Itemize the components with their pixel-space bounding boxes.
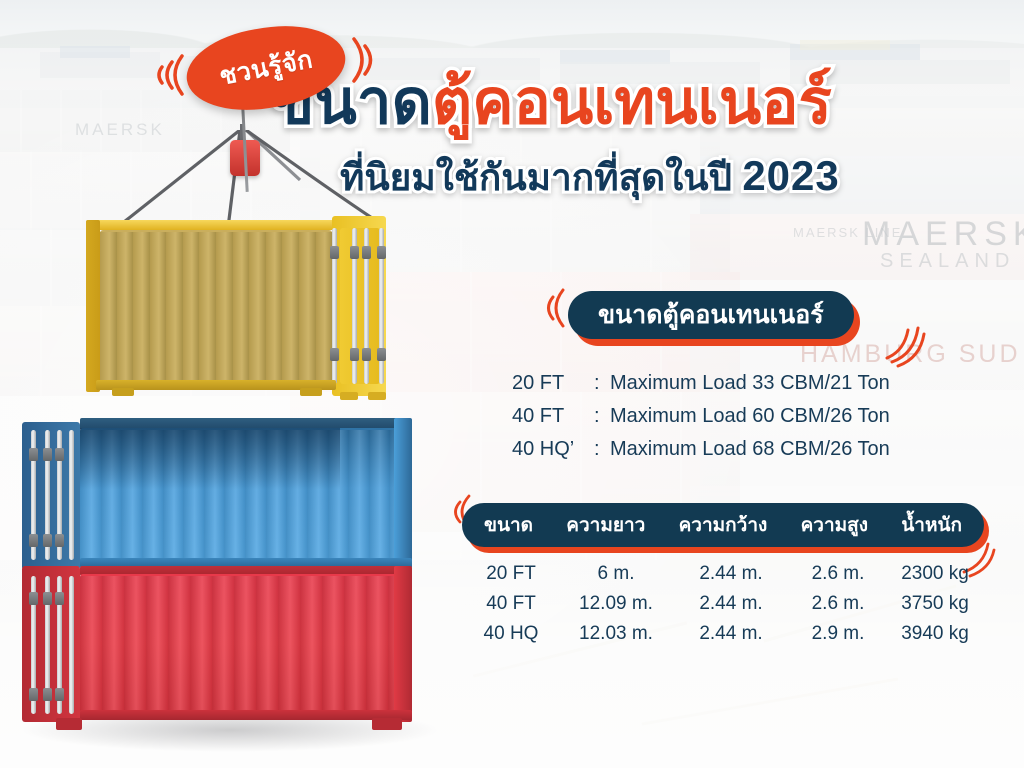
container-rod-lug [377,246,386,259]
table-row: 40 FT 12.09 m. 2.44 m. 2.6 m. 3750 kg [462,593,984,623]
table-cell-weight: 2300 kg [886,563,984,585]
table-cell-length: 6 m. [560,563,672,585]
table-column-header-height: ความสูง [801,510,868,540]
container-door-panel [340,228,380,384]
container-rod-lug [55,592,64,605]
container-rod-lug [350,246,359,259]
container-rod-lug [43,534,52,547]
container-rod-lug [330,348,339,361]
load-separator: : [594,438,610,461]
table-cell-width: 2.44 m. [672,593,790,615]
table-cell-width: 2.44 m. [672,563,790,585]
load-size: 20 FT [512,372,594,395]
load-value: Maximum Load 60 CBM/26 Ton [610,405,890,428]
load-size: 40 FT [512,405,594,428]
container-corner-post [86,220,100,392]
container-foot [368,392,386,400]
table-cell-length: 12.09 m. [560,593,672,615]
intro-badge: ชวนรู้จัก [186,28,346,108]
container-rod-lug [330,246,339,259]
container-foot [56,718,82,730]
load-separator: : [594,405,610,428]
load-separator: : [594,372,610,395]
intro-badge-label: ชวนรู้จัก [216,39,316,96]
container-rod-lug [29,448,38,461]
section-title-pill: ขนาดตู้คอนเทนเนอร์ [568,291,854,339]
container-rod-lug [55,534,64,547]
page-subtitle: ที่นิยมใช้กันมากที่สุดในปี 2023 [340,148,840,207]
load-value: Maximum Load 33 CBM/21 Ton [610,372,890,395]
container-foot [340,392,358,400]
page-subtitle-year: 2023 [742,152,839,199]
container-foot [372,718,402,730]
table-cell-width: 2.44 m. [672,623,790,645]
photo-brand-maersk-line: MAERSK LINE [793,225,902,240]
container-locking-rod [69,430,74,560]
table-cell-weight: 3750 kg [886,593,984,615]
container-foot [112,388,134,396]
table-column-header-size: ขนาด [484,510,533,540]
list-item: 40 HQ’ : Maximum Load 68 CBM/26 Ton [512,438,890,471]
container-rod-lug [350,348,359,361]
page-subtitle-text: ที่นิยมใช้กันมากที่สุดในปี [340,157,742,198]
table-cell-size: 20 FT [462,563,560,585]
container-rod-lug [362,348,371,361]
table-cell-length: 12.03 m. [560,623,672,645]
table-column-header-width: ความกว้าง [679,510,768,540]
sound-arc-title-left-icon [536,286,570,330]
red-container [22,566,422,726]
blue-container [22,418,422,570]
spec-table-body: 20 FT 6 m. 2.44 m. 2.6 m. 2300 kg 40 FT … [462,563,984,653]
container-top-shadow [80,428,340,490]
table-cell-height: 2.6 m. [790,563,886,585]
list-item: 20 FT : Maximum Load 33 CBM/21 Ton [512,372,890,405]
load-size: 40 HQ’ [512,438,594,461]
table-column-header-length: ความยาว [566,510,645,540]
yellow-container [86,220,386,392]
table-row: 20 FT 6 m. 2.44 m. 2.6 m. 2300 kg [462,563,984,593]
load-value: Maximum Load 68 CBM/26 Ton [610,438,890,461]
table-cell-weight: 3940 kg [886,623,984,645]
container-rod-lug [29,534,38,547]
container-rod-lug [377,348,386,361]
container-rod-lug [29,592,38,605]
table-cell-size: 40 FT [462,593,560,615]
intro-badge-pill: ชวนรู้จัก [181,16,352,120]
container-rod-lug [55,448,64,461]
table-cell-size: 40 HQ [462,623,560,645]
spec-table-header: ขนาด ความยาว ความกว้าง ความสูง น้ำหนัก [462,503,984,547]
sound-arc-title-right-icon [884,318,928,370]
list-item: 40 FT : Maximum Load 60 CBM/26 Ton [512,405,890,438]
photo-brand-sealand: SEALAND [880,250,1015,273]
container-bottom-rail [80,710,412,720]
section-title-label: ขนาดตู้คอนเทนเนอร์ [598,295,824,335]
container-foot [300,388,322,396]
container-corner-post [394,566,412,722]
container-rod-lug [362,246,371,259]
stacked-containers-illustration [22,418,442,728]
table-row: 40 HQ 12.03 m. 2.44 m. 2.9 m. 3940 kg [462,623,984,653]
container-rod-lug [55,688,64,701]
container-rod-lug [29,688,38,701]
page-title-part-orange: ตู้คอนเทนเนอร์ [432,68,832,137]
table-cell-height: 2.6 m. [790,593,886,615]
container-rod-lug [43,688,52,701]
sound-arc-right-icon [344,32,388,88]
table-column-header-weight: น้ำหนัก [901,510,962,540]
table-cell-height: 2.9 m. [790,623,886,645]
container-rod-lug [43,592,52,605]
container-corner-post [394,418,412,568]
max-load-list: 20 FT : Maximum Load 33 CBM/21 Ton 40 FT… [512,372,890,471]
container-rod-lug [43,448,52,461]
container-locking-rod [69,576,74,714]
